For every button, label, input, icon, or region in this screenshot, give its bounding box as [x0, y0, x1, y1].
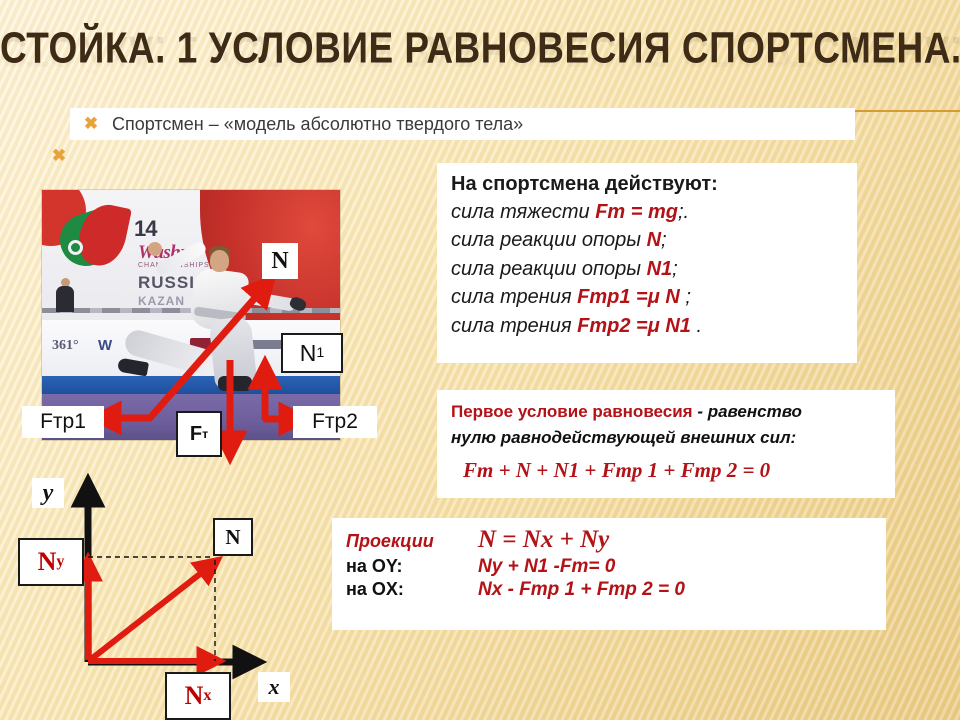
label-N1-subscript: 1 [316, 345, 324, 361]
force-line-friction-2: сила трения Fтр2 =μ N1 . [451, 312, 857, 340]
equilibrium-condition-box: Первое условие равновесия - равенство ну… [437, 390, 895, 498]
force-line-normal-n-tail: ; [661, 229, 667, 251]
forces-header-text: На спортсмена действуют [451, 173, 711, 195]
force-line-gravity: сила тяжести Fт = mg;. [451, 198, 857, 226]
label-Ftr2-photo: Fтр2 [293, 406, 377, 438]
projection-key-oy: на OY: [346, 556, 478, 577]
label-Ft-photo: Fт [176, 411, 222, 457]
force-line-normal-n1-symbol: N1 [647, 258, 673, 280]
force-line-normal-n-symbol: N [647, 229, 661, 251]
force-line-gravity-text: сила тяжести [451, 201, 595, 223]
label-N-diagram: N [213, 518, 253, 556]
label-Ny-subscript: y [56, 553, 64, 571]
force-line-friction-1: сила трения Fтр1 =μ N ; [451, 283, 857, 311]
force-line-normal-n: сила реакции опоры N; [451, 226, 857, 254]
forces-header-colon: : [711, 173, 718, 195]
label-N-photo: N [262, 243, 298, 279]
label-N1-photo: N1 [281, 333, 343, 373]
vector-N-diagram [90, 563, 214, 660]
condition-title-line2: нулю равнодействующей внешних сил: [451, 425, 895, 451]
projection-value-oy: Ny + N1 -Fт= 0 [478, 556, 615, 578]
force-line-normal-n-text: сила реакции опоры [451, 229, 647, 251]
presentation-slide: Стойка. 1 Условие равновесия спортсмена.… [0, 0, 960, 720]
force-line-normal-n1-tail: ; [672, 258, 678, 280]
label-Nx-subscript: x [203, 687, 211, 705]
force-line-friction-1-text: сила трения [451, 286, 577, 308]
forces-list-box: На спортсмена действуют: сила тяжести Fт… [437, 163, 857, 363]
projection-key-ox: на OX: [346, 579, 478, 600]
force-line-friction-2-tail: . [691, 315, 702, 337]
projections-box: Проекции N = Nx + Ny на OY: Ny + N1 -Fт=… [332, 518, 886, 630]
label-Ny-diagram: Ny [18, 538, 84, 586]
label-Nx-base: N [185, 681, 204, 711]
forces-header: На спортсмена действуют: [451, 173, 857, 196]
force-line-gravity-symbol: Fт = mg [595, 201, 678, 223]
force-line-friction-2-text: сила трения [451, 315, 577, 337]
vector-N-photo [150, 283, 268, 418]
condition-title-line: Первое условие равновесия - равенство [451, 399, 895, 425]
force-line-friction-2-symbol: Fтр2 =μ N1 [577, 315, 691, 337]
label-axis-y: y [32, 478, 64, 508]
force-line-friction-1-symbol: Fтр1 =μ N [577, 286, 680, 308]
label-Ft-subscript: т [202, 427, 208, 441]
condition-title-red: Первое условие равновесия [451, 402, 693, 421]
label-Nx-diagram: Nx [165, 672, 231, 720]
force-line-friction-1-tail: ; [680, 286, 691, 308]
label-axis-x: x [258, 672, 290, 702]
label-Ft-base: F [190, 423, 202, 446]
projection-row-title: Проекции N = Nx + Ny [346, 526, 886, 554]
projection-value-vector-sum: N = Nx + Ny [478, 526, 609, 554]
condition-equation: Fт + N + N1 + Fтр 1 + Fтр 2 = 0 [463, 458, 895, 483]
label-Ny-base: N [38, 547, 57, 577]
force-line-normal-n1: сила реакции опоры N1; [451, 255, 857, 283]
projection-row-oy: на OY: Ny + N1 -Fт= 0 [346, 556, 886, 578]
force-line-normal-n1-text: сила реакции опоры [451, 258, 647, 280]
projection-value-ox: Nx - Fтр 1 + Fтр 2 = 0 [478, 579, 685, 601]
force-line-gravity-tail: ;. [678, 201, 689, 223]
label-Ftr1-photo: Fтр1 [22, 406, 104, 438]
projection-key-title: Проекции [346, 531, 478, 552]
condition-title-black: - равенство [693, 402, 802, 421]
projection-row-ox: на OX: Nx - Fтр 1 + Fтр 2 = 0 [346, 579, 886, 601]
label-N1-base: N [300, 340, 317, 367]
